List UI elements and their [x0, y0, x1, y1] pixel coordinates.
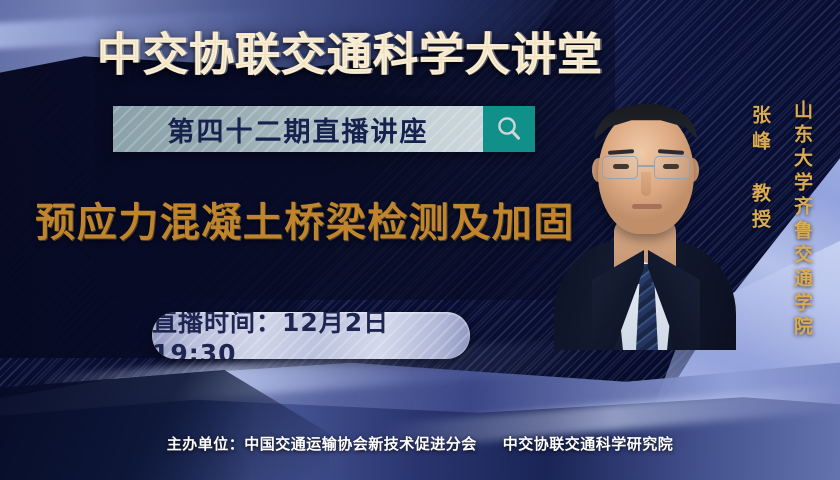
program-title: 中交协联交通科学大讲堂	[0, 18, 700, 83]
search-button[interactable]	[483, 106, 535, 152]
episode-banner: 第四十二期直播讲座	[113, 106, 535, 152]
glasses-icon	[602, 156, 690, 180]
glasses-lens-right	[654, 156, 690, 179]
glasses-lens-left	[602, 156, 638, 179]
speaker-name-and-rank: 张峰 教授	[747, 105, 774, 235]
organizer-footer: 主办单位：中国交通运输协会新技术促进分会中交协联交通科学研究院	[0, 433, 840, 454]
episode-label: 第四十二期直播讲座	[168, 110, 429, 149]
search-icon	[494, 114, 524, 144]
broadcast-time-label: 直播时间：12月2日19:30	[152, 312, 470, 359]
organizer-name-1: 中国交通运输协会新技术促进分会	[244, 435, 477, 453]
organizer-prefix: 主办单位：	[167, 435, 245, 453]
episode-banner-body: 第四十二期直播讲座	[113, 106, 483, 152]
portrait-mouth	[632, 204, 662, 209]
organizer-name-2: 中交协联交通科学研究院	[503, 435, 674, 453]
poster-canvas: 中交协联交通科学大讲堂 第四十二期直播讲座 预应力混凝土桥梁检测及加固 直播时间…	[0, 0, 840, 480]
broadcast-time-badge: 直播时间：12月2日19:30	[152, 312, 470, 359]
speaker-affiliation: 山东大学齐鲁交通学院	[789, 100, 816, 340]
speaker-portrait	[552, 100, 738, 350]
glasses-bridge	[638, 165, 654, 167]
lecture-topic-title: 预应力混凝土桥梁检测及加固	[0, 190, 610, 248]
